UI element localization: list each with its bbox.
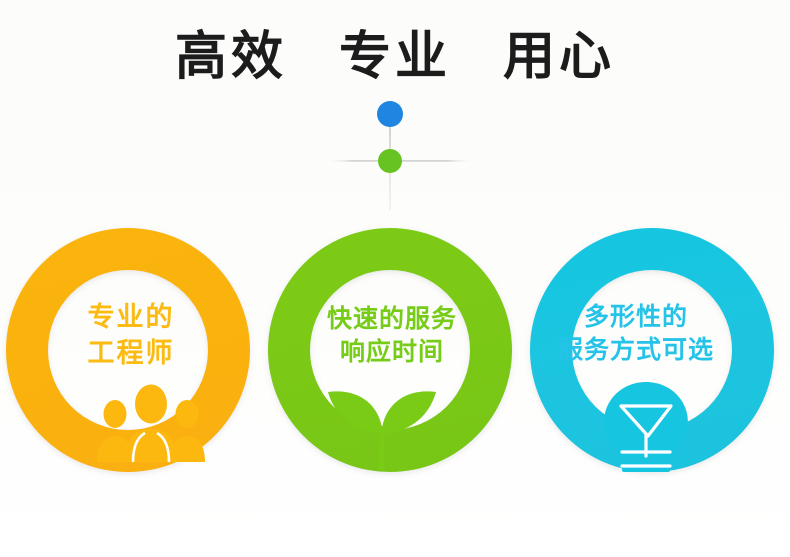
venn-rings (0, 0, 790, 557)
green-cyan-overlap (0, 0, 790, 557)
infographic-canvas: 高效专业用心 (0, 0, 790, 557)
